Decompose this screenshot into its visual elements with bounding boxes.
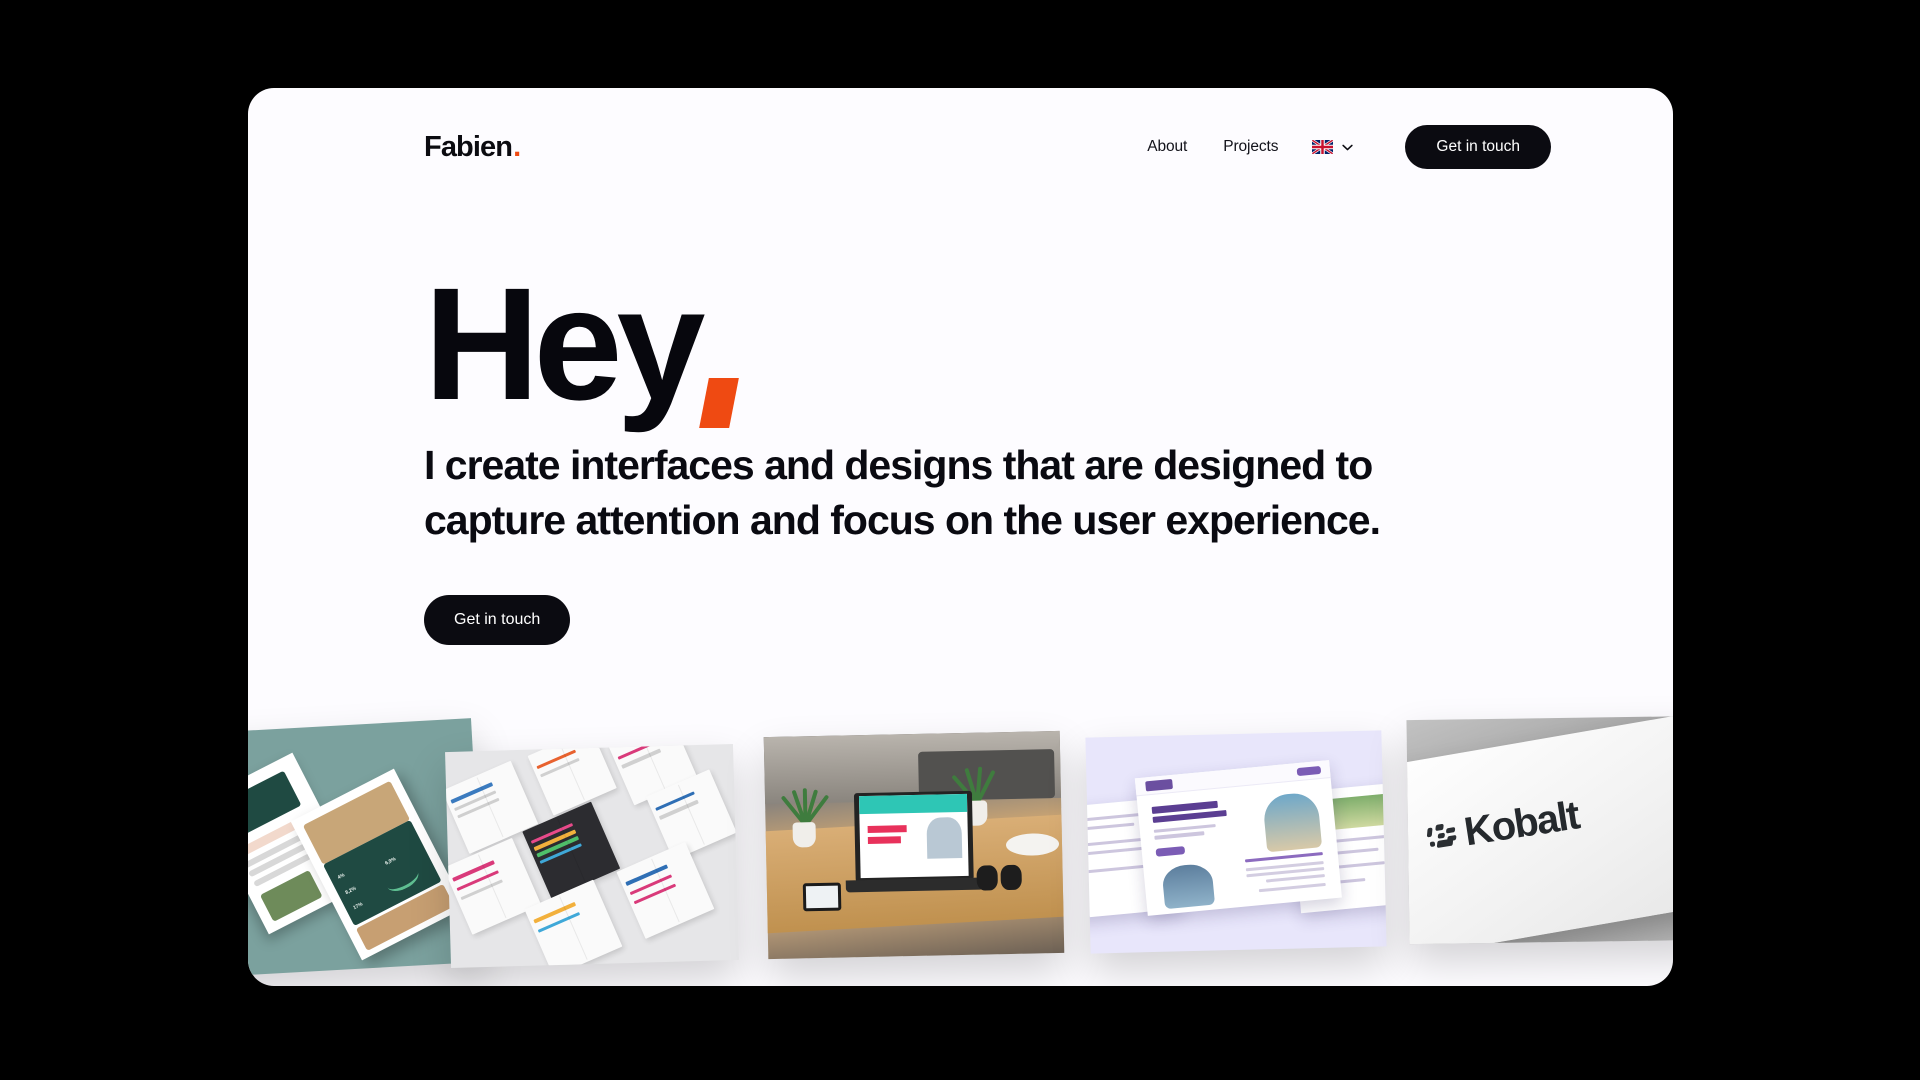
nav-link-about[interactable]: About [1129,130,1205,164]
nav-link-projects[interactable]: Projects [1205,130,1296,164]
phone-mockup [802,882,841,912]
language-switcher[interactable] [1296,132,1367,162]
main-nav: About Projects Get in touch [1129,125,1551,169]
brand-dot: . [513,133,520,162]
gallery-item-laptop-desk[interactable] [764,731,1065,959]
page-card: Fabien . About Projects [248,88,1673,986]
laptop-mockup [854,790,974,881]
brand-name: Fabien [424,133,512,162]
gallery-item-kobalt-logo[interactable]: Kobalt [1406,716,1673,944]
plant-left [783,789,826,848]
brand-logo[interactable]: Fabien . [424,133,520,162]
hero-section: Hey I create interfaces and designs that… [424,264,1563,645]
hero-headline: Hey [424,264,700,424]
uk-flag-icon [1312,140,1333,154]
screen: Fabien . About Projects [0,0,1920,1080]
kobalt-wordmark: Kobalt [1461,793,1581,855]
kobalt-paper: Kobalt [1406,716,1673,944]
kobalt-logo: Kobalt [1425,793,1582,861]
hero-subheadline: I create interfaces and designs that are… [424,438,1484,547]
hero-headline-wrap: Hey [424,264,700,424]
gallery-strip: 4% 6,9% 8,2% 17% [248,686,1673,986]
kobalt-mark-icon [1426,821,1458,851]
nav-get-in-touch-button[interactable]: Get in touch [1405,125,1551,169]
mockup-main-site [1135,760,1343,916]
chevron-down-icon [1342,144,1353,151]
site-header: Fabien . About Projects [248,88,1673,206]
gallery-item-booklets[interactable] [445,744,739,968]
orange-comma-mark-icon [699,378,739,428]
headphones [976,856,1021,890]
laptop-screen [859,794,970,878]
hero-get-in-touch-button[interactable]: Get in touch [424,595,570,645]
gallery-item-web-mockups[interactable] [1085,730,1386,953]
